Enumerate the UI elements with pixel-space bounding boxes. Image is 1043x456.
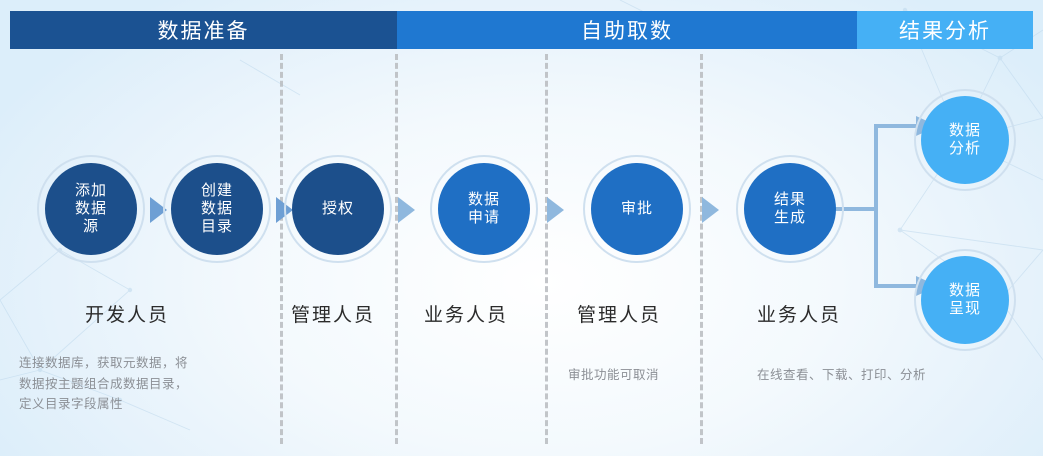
description-approval: 审批功能可取消 — [568, 365, 728, 386]
node-label: 数据 分析 — [949, 122, 981, 157]
node-label: 结果 生成 — [774, 191, 806, 226]
role-label-business-1: 业务人员 — [424, 300, 508, 327]
role-label-admin-1: 管理人员 — [291, 300, 375, 327]
role-label-business-2: 业务人员 — [757, 300, 841, 327]
arrow-request-to-approval — [547, 197, 564, 223]
lane-divider-1 — [280, 54, 283, 444]
node-label: 数据 申请 — [468, 191, 500, 226]
node-create-catalog[interactable]: 创建 数据 目录 — [171, 163, 263, 255]
phase-segment-data-preparation[interactable]: 数据准备 — [10, 11, 397, 49]
phase-label: 数据准备 — [158, 15, 250, 45]
node-label: 数据 呈现 — [949, 282, 981, 317]
node-approval[interactable]: 审批 — [591, 163, 683, 255]
node-label: 添加 数据 源 — [75, 182, 107, 235]
arrow-approval-to-result — [702, 197, 719, 223]
phase-segment-self-service-query[interactable]: 自助取数 — [397, 11, 857, 49]
node-add-datasource[interactable]: 添加 数据 源 — [45, 163, 137, 255]
description-data-preparation: 连接数据库，获取元数据，将 数据按主题组合成数据目录， 定义目录字段属性 — [19, 353, 269, 415]
arrow-authorize-to-request — [398, 197, 415, 223]
phase-label: 自助取数 — [581, 15, 673, 45]
role-label-developer: 开发人员 — [85, 300, 169, 327]
node-label: 创建 数据 目录 — [201, 182, 233, 235]
node-label: 审批 — [621, 200, 653, 218]
node-label: 授权 — [322, 200, 354, 218]
flow-diagram: 数据准备 自助取数 结果分析 添加 数据 源 创建 数据 目录 授权 — [0, 0, 1043, 456]
node-data-analysis[interactable]: 数据 分析 — [921, 96, 1009, 184]
node-data-request[interactable]: 数据 申请 — [438, 163, 530, 255]
lane-divider-2 — [395, 54, 398, 444]
phase-label: 结果分析 — [899, 15, 991, 45]
node-authorize[interactable]: 授权 — [292, 163, 384, 255]
node-data-presentation[interactable]: 数据 呈现 — [921, 256, 1009, 344]
phase-bar: 数据准备 自助取数 结果分析 — [10, 11, 1033, 49]
lane-divider-3 — [545, 54, 548, 444]
role-label-admin-2: 管理人员 — [577, 300, 661, 327]
description-result-output: 在线查看、下载、打印、分析 — [757, 365, 1017, 386]
phase-segment-result-analysis[interactable]: 结果分析 — [857, 11, 1033, 49]
node-result-generate[interactable]: 结果 生成 — [744, 163, 836, 255]
